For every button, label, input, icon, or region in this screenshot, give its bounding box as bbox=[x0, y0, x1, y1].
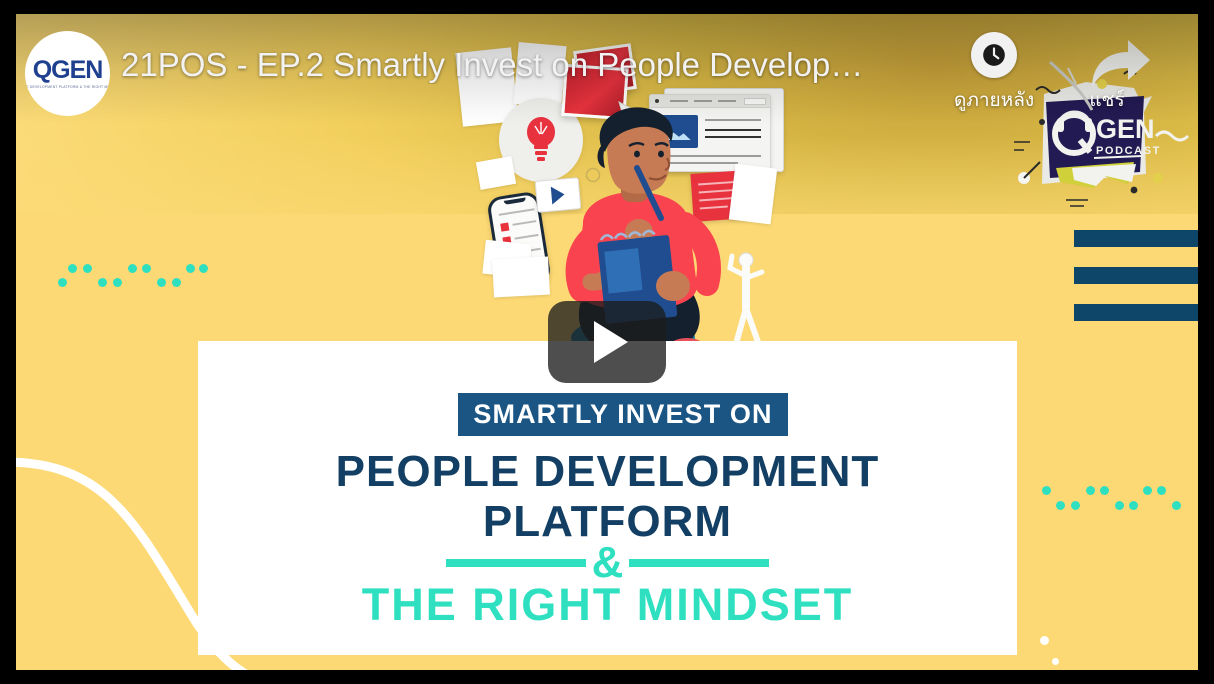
watch-later-button[interactable]: ดูภายหลัง bbox=[954, 32, 1034, 115]
decorative-dot bbox=[172, 278, 181, 287]
ampersand-rule-left bbox=[446, 559, 586, 567]
decorative-dot bbox=[98, 278, 107, 287]
video-title[interactable]: 21POS - EP.2 Smartly Invest on People De… bbox=[121, 46, 911, 84]
decorative-bar-3 bbox=[1074, 304, 1198, 321]
decorative-dot bbox=[1157, 486, 1166, 495]
browser-url-line bbox=[670, 100, 688, 102]
decorative-dot bbox=[1143, 486, 1152, 495]
video-player[interactable]: GEN PODCAST SMARTLY INVEST bbox=[0, 0, 1214, 684]
decorative-dot bbox=[68, 264, 77, 273]
browser-button bbox=[744, 98, 766, 105]
decorative-dot bbox=[1086, 486, 1095, 495]
browser-url-line bbox=[718, 100, 736, 102]
channel-logo-subtext: PEOPLE DEVELOPMENT PLATFORM & THE RIGHT … bbox=[25, 85, 110, 89]
decorative-dot bbox=[186, 264, 195, 273]
phone-checkbox bbox=[500, 222, 509, 231]
browser-dot-icon bbox=[655, 99, 659, 103]
decorative-dot bbox=[1042, 486, 1051, 495]
ampersand-rule-right bbox=[629, 559, 769, 567]
decorative-dot bbox=[1100, 486, 1109, 495]
play-button[interactable] bbox=[548, 301, 666, 383]
decorative-dot bbox=[113, 278, 122, 287]
decorative-dot bbox=[128, 264, 137, 273]
decorative-dot bbox=[1129, 501, 1138, 510]
browser-url-line bbox=[694, 100, 712, 102]
channel-logo-text: QGEN bbox=[33, 58, 103, 83]
thumbnail-subheadline: THE RIGHT MINDSET bbox=[198, 579, 1017, 631]
clock-icon bbox=[971, 32, 1017, 78]
decorative-dot bbox=[58, 278, 67, 287]
decorative-bar-2 bbox=[1074, 267, 1198, 284]
thumbnail-text-card: SMARTLY INVEST ON PEOPLE DEVELOPMENT PLA… bbox=[198, 341, 1017, 655]
decorative-dot bbox=[142, 264, 151, 273]
share-label: แชร์ bbox=[1089, 85, 1124, 115]
channel-avatar[interactable]: QGEN PEOPLE DEVELOPMENT PLATFORM & THE R… bbox=[25, 31, 110, 116]
decorative-dot bbox=[1172, 501, 1181, 510]
video-thumbnail-area[interactable]: GEN PODCAST SMARTLY INVEST bbox=[16, 14, 1198, 670]
thumbnail-banner: SMARTLY INVEST ON bbox=[458, 393, 788, 436]
thumbnail-headline-line1: PEOPLE DEVELOPMENT bbox=[198, 447, 1017, 497]
decorative-dot bbox=[1115, 501, 1124, 510]
decorative-dot-white bbox=[1052, 658, 1059, 665]
share-arrow-icon bbox=[1084, 32, 1130, 78]
decorative-dot-white bbox=[1040, 636, 1049, 645]
decorative-dot bbox=[1056, 501, 1065, 510]
decorative-dot bbox=[199, 264, 208, 273]
decorative-dot bbox=[83, 264, 92, 273]
decorative-dot bbox=[157, 278, 166, 287]
share-button[interactable]: แชร์ bbox=[1084, 32, 1130, 115]
play-triangle-icon bbox=[594, 321, 628, 363]
watch-later-label: ดูภายหลัง bbox=[954, 85, 1034, 115]
decorative-bar-1 bbox=[1074, 230, 1198, 247]
decorative-dot bbox=[1071, 501, 1080, 510]
banner-text: SMARTLY INVEST ON bbox=[473, 399, 772, 430]
